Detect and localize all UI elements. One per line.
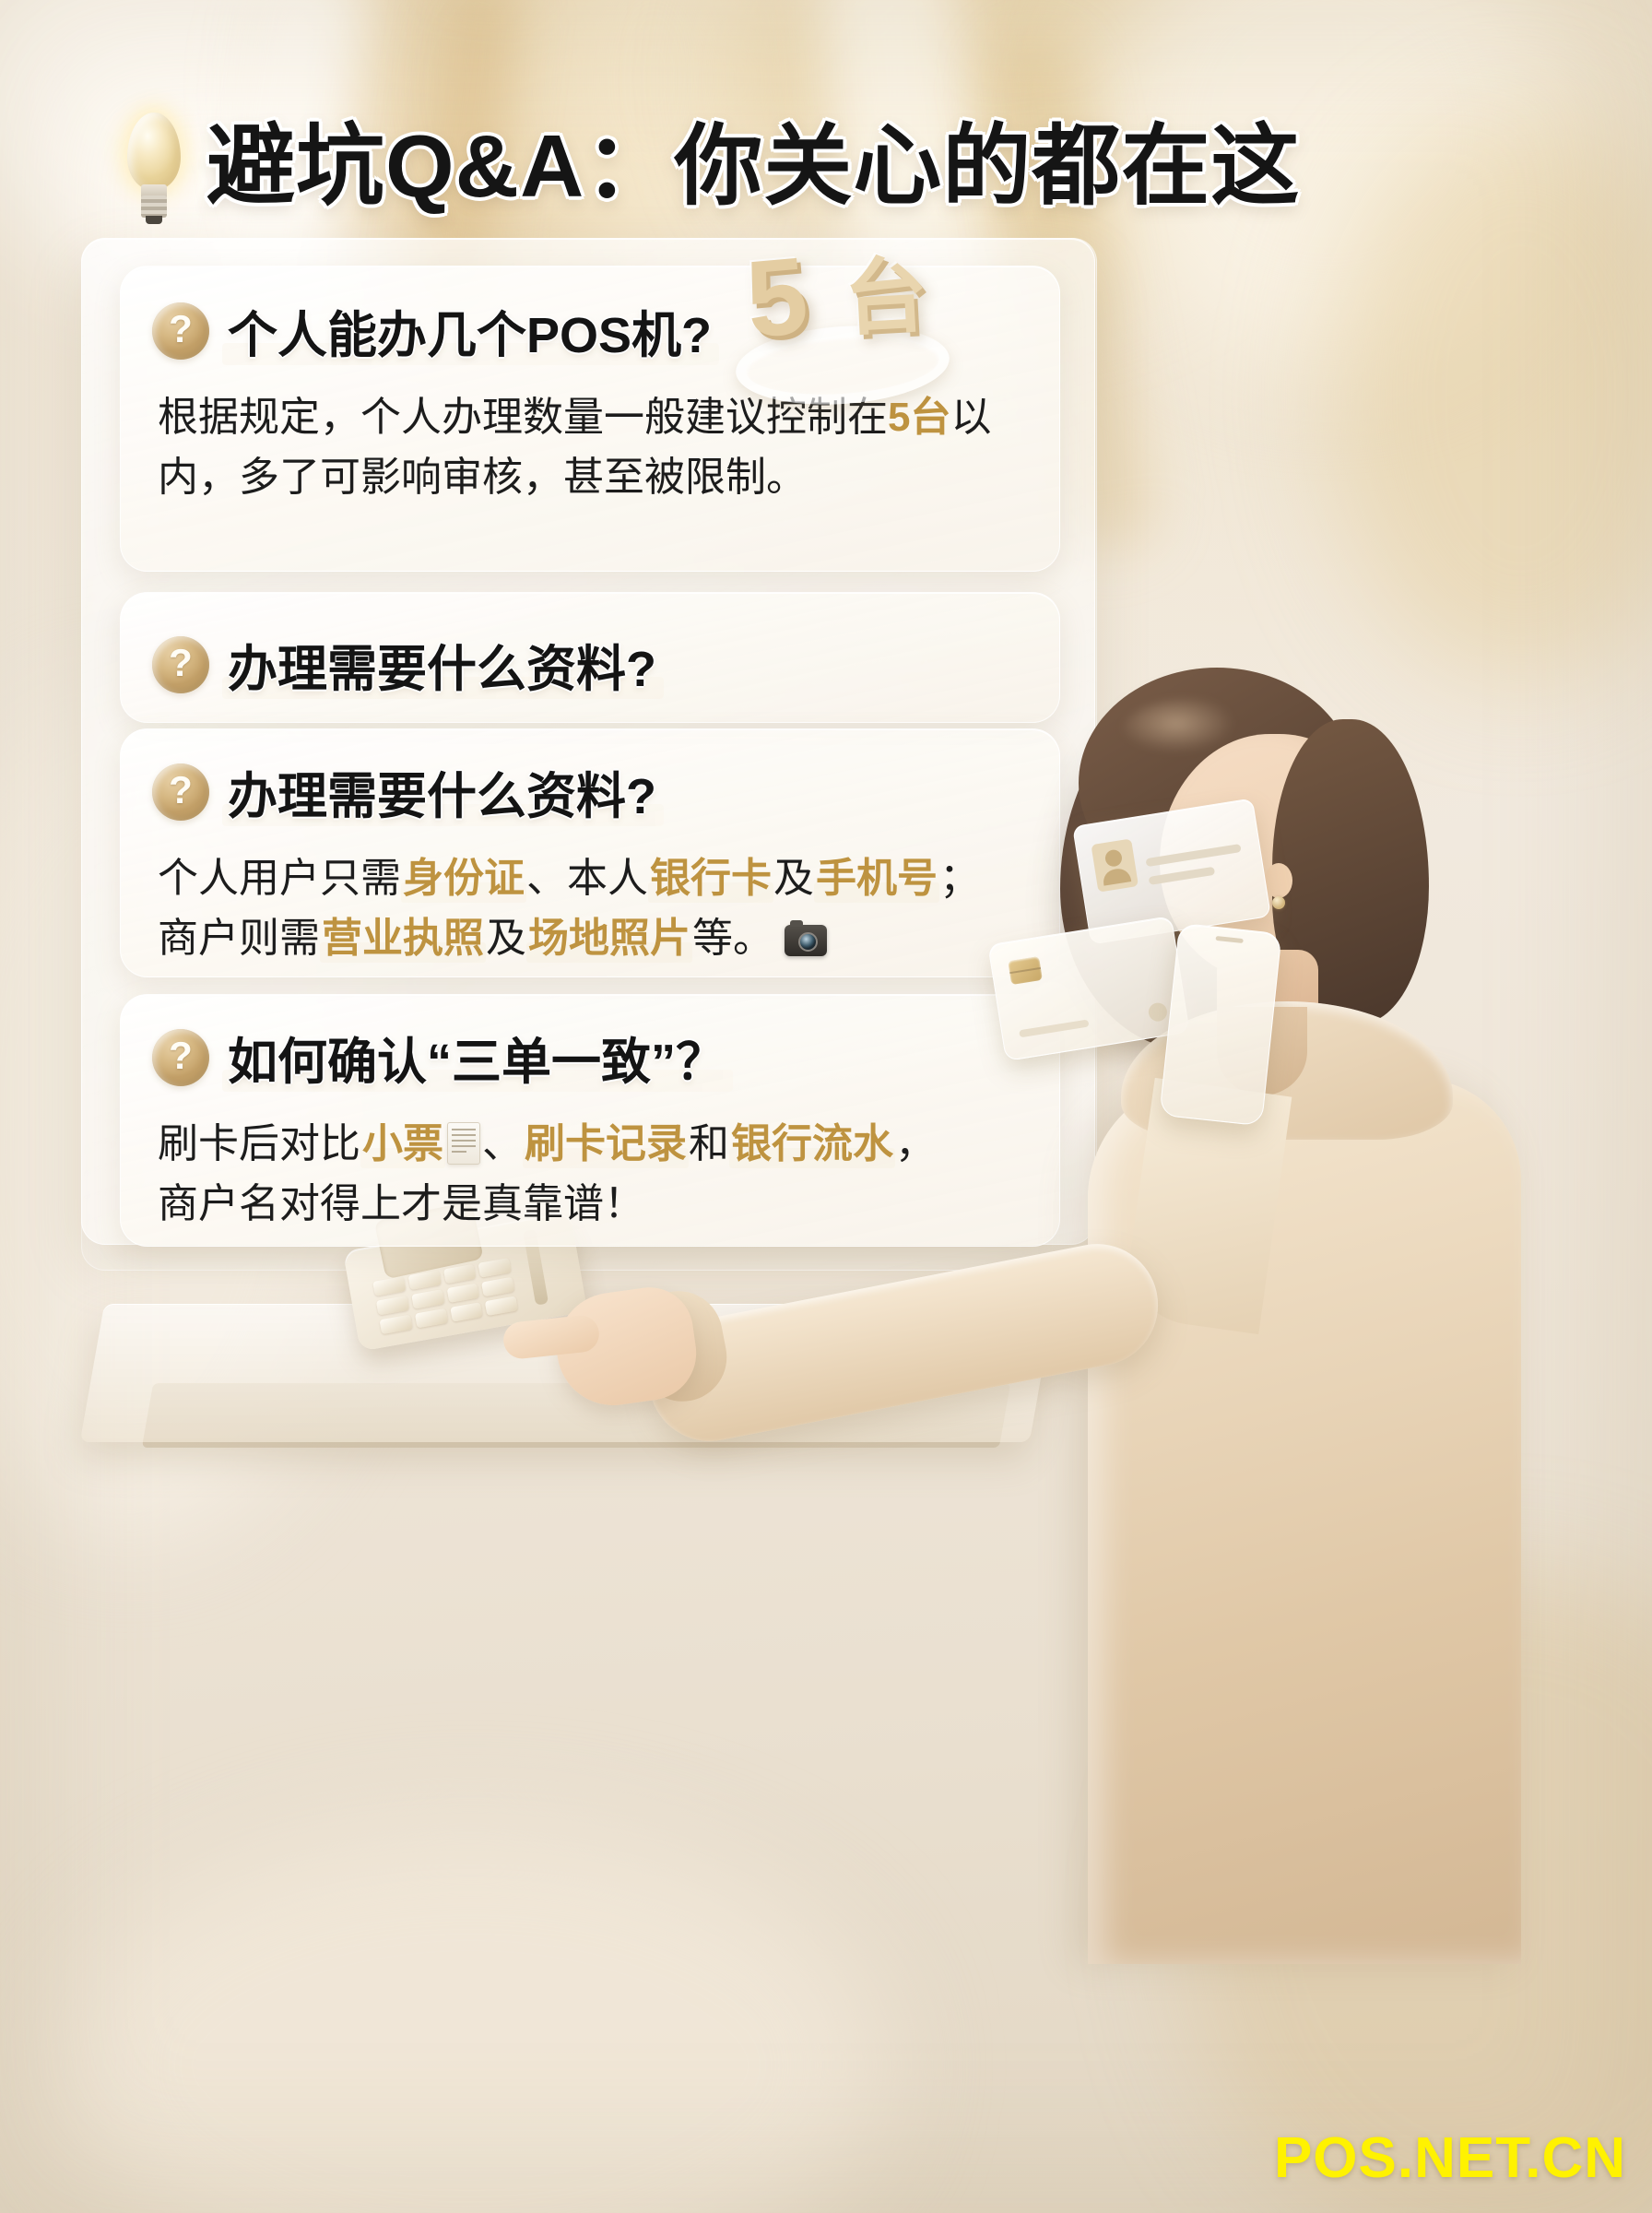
answer-emphasis-segment: 银行流水 [729, 1121, 895, 1166]
answer-emphasis-segment: 刷卡记录 [523, 1121, 689, 1166]
answer-emphasis-segment: 银行卡 [648, 856, 773, 901]
watermark: POS.NET.CN [1274, 2125, 1626, 2191]
answer-text-segment: 个人用户只需 [158, 856, 401, 901]
answer-text-segment: 商户则需 [158, 916, 320, 961]
lightbulb-base [141, 195, 167, 218]
qa-answer-text: 个人用户只需身份证、本人银行卡及手机号；商户则需营业执照及场地照片等。 [121, 848, 1059, 968]
answer-text-segment: 等。 [692, 916, 773, 961]
answer-text-segment: 商户名对得上才是真靠谱！ [158, 1181, 644, 1226]
lightbulb-icon [118, 112, 190, 221]
answer-text-segment: 刷卡后对比 [158, 1121, 360, 1166]
answer-text-segment: ， [895, 1121, 936, 1166]
answer-text-segment: 、本人 [526, 856, 648, 901]
answer-text-segment: 及 [486, 916, 526, 961]
woman-character-illustration [940, 645, 1652, 2213]
answer-text-segment: 根据规定，个人办理数量一般建议控制在 [158, 395, 888, 440]
answer-emphasis-segment: 营业执照 [320, 916, 486, 961]
page-title-row: 避坑Q&A：你关心的都在这 [118, 112, 1300, 221]
question-mark-icon: ? [152, 636, 209, 693]
question-badge-label: ? [169, 1036, 193, 1075]
answer-emphasis-segment: 小票 [360, 1121, 445, 1166]
qa-card[interactable]: ? 办理需要什么资料? [120, 592, 1060, 723]
qa-question-text: 个人能办几个POS机? [228, 294, 712, 367]
answer-emphasis-segment: 身份证 [401, 856, 526, 901]
qa-answer-text: 刷卡后对比小票、刷卡记录和银行流水，商户名对得上才是真靠谱！ [121, 1114, 1059, 1234]
question-mark-icon: ? [152, 763, 209, 821]
receipt-icon [447, 1122, 480, 1165]
lightbulb-glass [127, 112, 181, 190]
qa-card[interactable]: ? 个人能办几个POS机? 根据规定，个人办理数量一般建议控制在5台以内，多了可… [120, 266, 1060, 572]
qa-card[interactable]: ? 办理需要什么资料? 个人用户只需身份证、本人银行卡及手机号；商户则需营业执照… [120, 728, 1060, 977]
qa-question-text: 办理需要什么资料? [228, 755, 656, 828]
lightbulb-tip [146, 216, 162, 224]
answer-text-segment: 和 [689, 1121, 729, 1166]
earring [1272, 896, 1285, 909]
answer-text-segment: 及 [773, 856, 814, 901]
question-mark-icon: ? [152, 302, 209, 360]
qa-card[interactable]: ? 如何确认“三单一致”？ 刷卡后对比小票、刷卡记录和银行流水，商户名对得上才是… [120, 994, 1060, 1247]
answer-emphasis-segment: 场地照片 [526, 916, 692, 961]
answer-emphasis-segment: 手机号 [814, 856, 939, 901]
page-title: 避坑Q&A：你关心的都在这 [206, 121, 1300, 213]
qa-question-row: ? 个人能办几个POS机? [121, 266, 1059, 367]
question-badge-label: ? [169, 771, 193, 810]
hair-sheen [1121, 699, 1259, 769]
qa-answer-text: 根据规定，个人办理数量一般建议控制在5台以内，多了可影响审核，甚至被限制。 [121, 387, 1059, 507]
answer-emphasis-segment: 5台 [888, 395, 950, 440]
qa-question-row: ? 办理需要什么资料? [121, 593, 1059, 701]
question-mark-icon: ? [152, 1029, 209, 1086]
qa-question-text: 如何确认“三单一致”？ [228, 1021, 726, 1094]
question-badge-label: ? [169, 310, 193, 349]
qa-question-text: 办理需要什么资料? [228, 628, 656, 701]
collar-v [1217, 1007, 1307, 1095]
qa-question-row: ? 办理需要什么资料? [121, 729, 1059, 828]
answer-text-segment: 、 [482, 1121, 523, 1166]
ear [1265, 863, 1292, 898]
qa-question-row: ? 如何确认“三单一致”？ [121, 995, 1059, 1094]
question-badge-label: ? [169, 644, 193, 682]
camera-icon [785, 925, 827, 956]
